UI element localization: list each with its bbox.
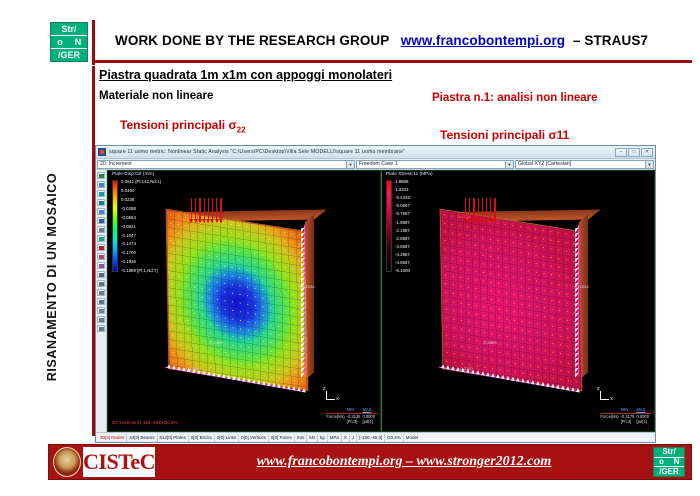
legend-value: -2.1887 [395, 229, 410, 233]
minmax-table-right: MIN MAX Force(kN) -0.3175 0.0000 [Pn:3] … [600, 407, 651, 425]
axis-label-x: X [336, 396, 339, 401]
plate-mesh-nodes [167, 210, 308, 390]
header-horizontal-rule [92, 60, 692, 63]
sidebar-vertical-title: RISANAMENTO DI UN MOSAICO [45, 152, 59, 402]
status-vertices: 0[0] Vertices [239, 434, 269, 442]
status-faces: 0[0] Faces [269, 434, 295, 442]
vertical-toolstrip [96, 170, 107, 432]
minmax-min-ref: [Pn:3] [621, 419, 637, 425]
contour-icon[interactable] [97, 226, 105, 233]
status-coordinates: [-150,-45,0] [357, 434, 385, 442]
load-magnitude-label: P=2234 [457, 214, 471, 219]
legend-value: 1.3333 [395, 188, 410, 192]
minmax-row-label: Force(kN) [600, 413, 620, 419]
legend-value: -4.6667 [395, 261, 410, 265]
status-plates: 512[0] Plates [158, 434, 189, 442]
status-mode: Model [404, 434, 420, 442]
logo-text-o: o [654, 458, 669, 466]
support-arrows-right [575, 220, 584, 378]
logo-text-n: N [669, 458, 684, 466]
bar-chart-icon[interactable] [97, 271, 105, 278]
slide-subtitle: Piastra quadrata 1m x1m con appoggi mono… [99, 68, 392, 82]
minmax-row-label [600, 419, 620, 425]
axis-system-dropdown[interactable]: Global XYZ [Cartesian] ▼ [515, 160, 654, 169]
legend-value: -0.4333 [395, 196, 410, 200]
column-icon[interactable] [97, 253, 105, 260]
minimize-button[interactable]: – [615, 148, 627, 157]
legend-value: 0.0460 [121, 189, 161, 193]
legend-left-colorbar [112, 180, 118, 272]
logo-text-ger: /GER [654, 468, 684, 476]
status-bar: 30[2] Nodes 44[0] Beams 512[0] Plates 0[… [96, 432, 655, 442]
legend-value: -1.9887 [395, 221, 410, 225]
axis-triad-left: Z X [312, 387, 346, 407]
logo-row-2: o N [51, 36, 87, 49]
workarea: Plate Disp:DZ (mm) 0.0511 [Pl:142,Nd:1] … [96, 170, 655, 432]
node-value-label: -0.1388 [185, 366, 199, 371]
legend-right-colorbar [386, 180, 392, 272]
increment-dropdown[interactable]: 20: Increment ▼ [97, 160, 355, 169]
plate-model-left[interactable]: P=2234 -0.1234 -0.1459 -0.1388 [151, 198, 337, 404]
maximize-button[interactable]: □ [628, 148, 640, 157]
chevron-down-icon[interactable]: ▼ [346, 161, 354, 168]
axis-label-z: Z [323, 386, 326, 391]
dropdown-toolbar: 20: Increment ▼ Freedom Case 1 ▼ Global … [96, 159, 655, 170]
status-beams: 44[0] Beams [127, 434, 157, 442]
legend-value: -2.8887 [395, 237, 410, 241]
logo-row-3: /GER [51, 49, 87, 61]
freedom-case-dropdown[interactable]: Freedom Case 1 ▼ [356, 160, 514, 169]
caption-left: Tensioni principali σ22 [120, 118, 246, 134]
logo-text-o: o [51, 38, 69, 47]
logo-text-str: Str/ [654, 448, 684, 456]
support-arrows-right [301, 220, 310, 378]
plate-stress-11-viewport[interactable]: Plate Stress:11 (MPa) 1.8888 1.3333 -0.4… [381, 170, 655, 432]
cabinet-icon[interactable] [97, 298, 105, 305]
minmax-row-label [326, 419, 346, 425]
header-vertical-rule [92, 20, 95, 65]
slide-material-note: Materiale non lineare [99, 90, 213, 102]
table-icon[interactable] [97, 280, 105, 287]
header-title-tail: – STRAUS7 [573, 33, 648, 48]
legend-value: 1.8888 [395, 180, 410, 184]
legend-value: -0.7667 [395, 212, 410, 216]
status-unit-stress: MPa [328, 434, 342, 442]
logo-text-n: N [69, 38, 87, 47]
window-title-text: square 11 uomo metric: Nonlinear Static … [109, 149, 614, 155]
plate-model-right[interactable]: P=2234 -0.1234 -0.3409 -0.2120 [425, 198, 611, 404]
footer-stronger-logo: Str/ o N /GER [653, 447, 685, 477]
plate-surface-contour [440, 209, 583, 392]
minmax-min-ref: [Pn:3] [347, 419, 363, 425]
caption-left-text: Tensioni principali σ [120, 118, 237, 132]
legend-value: -5.1000 [395, 269, 410, 273]
increment-note: 20: Increment (-150,-45,0) D0.4% [112, 420, 177, 425]
camera-icon[interactable] [97, 325, 105, 332]
axis-label-x: X [610, 396, 613, 401]
legend-right-title: Plate Stress:11 (MPa) [386, 173, 433, 178]
folder-icon[interactable] [97, 316, 105, 323]
header-title-main: WORK DONE BY THE RESEARCH GROUP [115, 33, 389, 48]
plate-disp-dz-viewport[interactable]: Plate Disp:DZ (mm) 0.0511 [Pl:142,Nd:1] … [107, 170, 381, 432]
status-scale: D0.4% [385, 434, 404, 442]
logo-row-2: o N [654, 458, 684, 468]
status-unit-length: mm [295, 434, 308, 442]
status-nodes: 30[2] Nodes [98, 434, 127, 442]
cistec-logo-text: CISTeC [83, 451, 155, 473]
cistec-logo: CISTeC [83, 447, 155, 477]
slide-root: Str/ o N /GER WORK DONE BY THE RESEARCH … [0, 0, 700, 496]
beam-icon[interactable] [97, 217, 105, 224]
application-icon [98, 148, 106, 156]
straus7-application-window: square 11 uomo metric: Nonlinear Static … [95, 145, 656, 443]
minmax-table-left: MIN MAX Force(kN) -0.3135 0.0000 [Pn:3] … [326, 407, 377, 425]
plate-icon[interactable] [97, 190, 105, 197]
logo-text-ger: /GER [51, 51, 87, 60]
footer-url[interactable]: www.francobontempi.org – www.stronger201… [155, 454, 653, 470]
plate-surface-contour [166, 209, 309, 392]
ruler-icon[interactable] [97, 307, 105, 314]
logo-row-1: Str/ [51, 23, 87, 36]
node-value-label: -0.3409 [483, 340, 497, 345]
status-bricks: 0[0] Bricks [189, 434, 215, 442]
chevron-down-icon[interactable]: ▼ [505, 161, 513, 168]
legend-left-title: Plate Disp:DZ (mm) [112, 173, 161, 178]
node-value-label: -0.1234 [575, 284, 589, 289]
plate-mesh-nodes [441, 210, 582, 390]
status-links: 0[0] Links [215, 434, 239, 442]
freedom-case-dropdown-value: Freedom Case 1 [359, 161, 398, 167]
axis-system-dropdown-value: Global XYZ [Cartesian] [518, 161, 571, 167]
minmax-row-label: Force(kN) [326, 413, 346, 419]
minmax-max-ref: [pd(1] [636, 419, 651, 425]
flag-icon[interactable] [97, 262, 105, 269]
caption-left-subscript: 22 [237, 125, 246, 134]
axis-label-z: Z [597, 386, 600, 391]
chevron-down-icon[interactable]: ▼ [645, 161, 653, 168]
point-icon[interactable] [97, 244, 105, 251]
legend-value: -0.0667 [395, 204, 410, 208]
status-unit-mass: kg [318, 434, 328, 442]
book-icon[interactable] [97, 289, 105, 296]
header-stronger-logo: Str/ o N /GER [50, 22, 88, 62]
logo-text-str: Str/ [51, 25, 87, 34]
node-value-label: -0.1234 [301, 284, 315, 289]
close-button[interactable]: ✕ [641, 148, 653, 157]
footer-bar: CISTeC www.francobontempi.org – www.stro… [48, 444, 692, 480]
header-website-link[interactable]: www.francobontempi.org [401, 33, 565, 48]
axis-triad-right: Z X [586, 387, 620, 407]
status-axis: X [342, 434, 350, 442]
legend-value: -3.5667 [395, 245, 410, 249]
legend-value: 0.0511 [Pl:142,Nd:1] [121, 180, 161, 184]
cylinder-icon[interactable] [97, 235, 105, 242]
logo-row-3: /GER [654, 467, 684, 476]
brick-icon[interactable] [97, 199, 105, 206]
header-title: WORK DONE BY THE RESEARCH GROUP www.fran… [115, 33, 685, 48]
node-icon[interactable] [97, 208, 105, 215]
window-titlebar[interactable]: square 11 uomo metric: Nonlinear Static … [96, 146, 655, 159]
increment-dropdown-value: 20: Increment [100, 161, 132, 167]
caption-right: Tensioni principali σ11 [440, 128, 569, 142]
slide-case-label: Piastra n.1: analisi non lineare [432, 92, 598, 104]
load-magnitude-label: P=2234 [183, 214, 197, 219]
university-seal-icon [53, 447, 81, 477]
select-icon[interactable] [97, 172, 105, 179]
node-value-label: -0.2120 [459, 366, 473, 371]
legend-right-values: 1.8888 1.3333 -0.4333 -0.0667 -0.7667 -1… [395, 180, 410, 274]
status-energy: J [350, 434, 357, 442]
minmax-max-ref: [pd(1] [362, 419, 377, 425]
legend-value: -4.2667 [395, 253, 410, 257]
status-unit-force: kN [307, 434, 318, 442]
pencil-icon[interactable] [97, 181, 105, 188]
node-value-label: -0.1459 [209, 340, 223, 345]
